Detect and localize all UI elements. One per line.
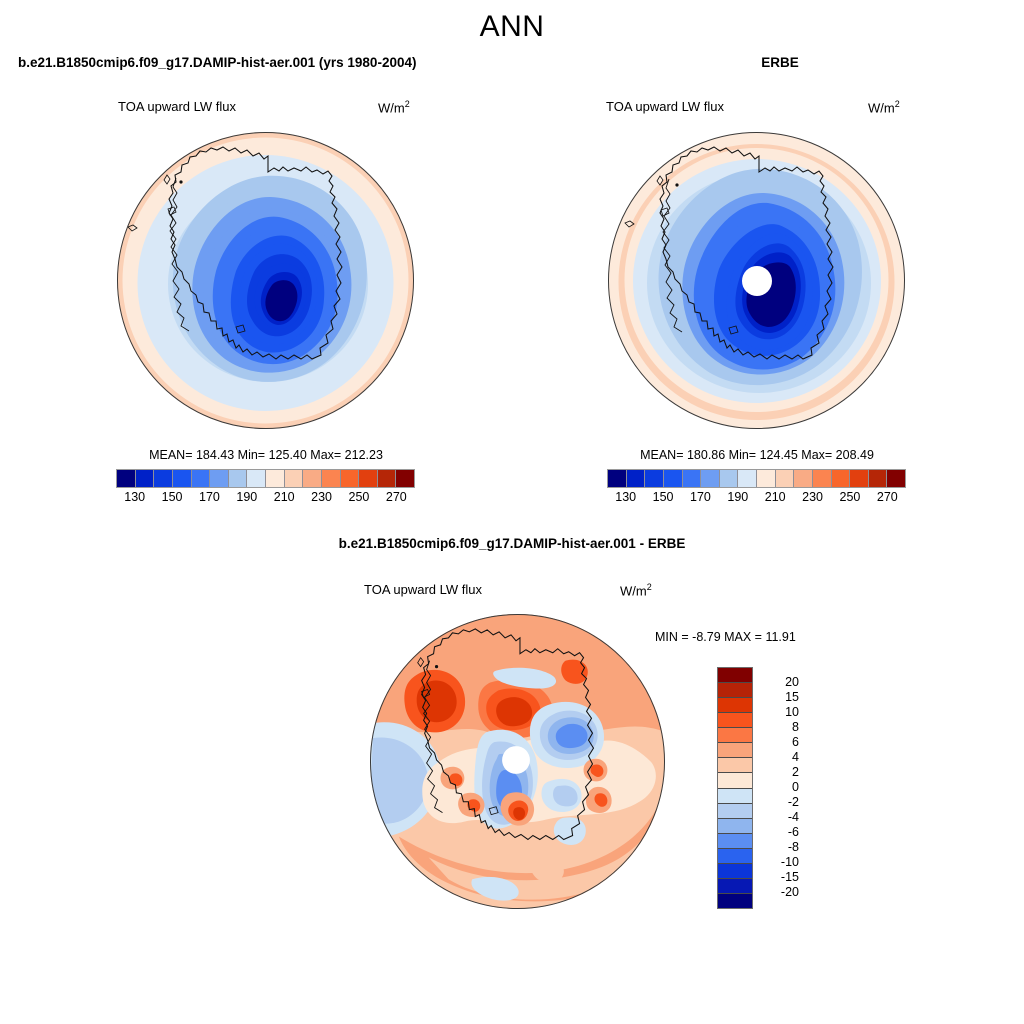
map-diff-svg — [369, 613, 666, 910]
colorbar-swatch-3 — [173, 470, 192, 487]
colorbar-tick-170: 170 — [690, 490, 711, 504]
diff-colorbar-swatch-9 — [718, 804, 752, 819]
colorbar-swatch-11 — [322, 470, 341, 487]
diff-colorbar-tick-neg20: -20 — [781, 885, 799, 899]
left-variable-label: TOA upward LW flux — [118, 99, 236, 114]
right-panel-title: ERBE — [600, 55, 960, 70]
colorbar-tick-190: 190 — [727, 490, 748, 504]
colorbar-tick-250: 250 — [840, 490, 861, 504]
colorbar-swatch-0 — [608, 470, 627, 487]
colorbar-swatch-5 — [210, 470, 229, 487]
colorbar-swatch-8 — [757, 470, 776, 487]
diff-colorbar-ticks: 20151086420-2-4-6-8-10-15-20 — [755, 667, 799, 907]
diff-colorbar-swatch-12 — [718, 849, 752, 864]
map-diff-antarctic[interactable] — [369, 613, 666, 910]
left-colorbar-swatches[interactable] — [116, 469, 415, 488]
colorbar-swatch-4 — [683, 470, 702, 487]
colorbar-swatch-3 — [664, 470, 683, 487]
colorbar-tick-150: 150 — [162, 490, 183, 504]
diff-colorbar-tick-8: 8 — [792, 720, 799, 734]
colorbar-swatch-1 — [136, 470, 155, 487]
diff-stats: MIN = -8.79 MAX = 11.91 — [655, 630, 855, 644]
diff-colorbar-tick-neg2: -2 — [788, 795, 799, 809]
colorbar-tick-230: 230 — [311, 490, 332, 504]
colorbar-swatch-11 — [813, 470, 832, 487]
diff-colorbar-tick-neg4: -4 — [788, 810, 799, 824]
right-stats: MEAN= 180.86 Min= 124.45 Max= 208.49 — [607, 448, 907, 462]
colorbar-tick-270: 270 — [877, 490, 898, 504]
diff-colorbar-swatches[interactable] — [717, 667, 753, 909]
diff-colorbar-swatch-10 — [718, 819, 752, 834]
colorbar-swatch-6 — [720, 470, 739, 487]
page-title: ANN — [0, 10, 1024, 44]
diff-colorbar-swatch-7 — [718, 773, 752, 788]
left-colorbar[interactable]: 130150170190210230250270 — [116, 469, 415, 506]
colorbar-tick-150: 150 — [653, 490, 674, 504]
left-units-text: W/m — [378, 100, 405, 115]
colorbar-swatch-15 — [396, 470, 414, 487]
polar-hole — [502, 746, 530, 774]
colorbar-tick-270: 270 — [386, 490, 407, 504]
colorbar-swatch-9 — [285, 470, 304, 487]
colorbar-swatch-7 — [247, 470, 266, 487]
diff-units-label: W/m2 — [620, 582, 652, 598]
diff-colorbar-swatch-5 — [718, 743, 752, 758]
right-units-exponent: 2 — [895, 99, 900, 109]
colorbar-tick-210: 210 — [765, 490, 786, 504]
diff-units-text: W/m — [620, 583, 647, 598]
colorbar-swatch-6 — [229, 470, 248, 487]
diff-colorbar-tick-neg15: -15 — [781, 870, 799, 884]
diff-colorbar-tick-6: 6 — [792, 735, 799, 749]
diff-colorbar-swatch-4 — [718, 728, 752, 743]
colorbar-tick-130: 130 — [124, 490, 145, 504]
left-panel-title: b.e21.B1850cmip6.f09_g17.DAMIP-hist-aer.… — [18, 55, 416, 70]
right-colorbar-ticks: 130150170190210230250270 — [607, 488, 906, 506]
diff-colorbar-tick-10: 10 — [785, 705, 799, 719]
colorbar-tick-250: 250 — [349, 490, 370, 504]
left-colorbar-ticks: 130150170190210230250270 — [116, 488, 415, 506]
polar-hole — [742, 266, 772, 296]
colorbar-tick-130: 130 — [615, 490, 636, 504]
right-colorbar-swatches[interactable] — [607, 469, 906, 488]
diff-colorbar-tick-20: 20 — [785, 675, 799, 689]
colorbar-tick-210: 210 — [274, 490, 295, 504]
colorbar-swatch-12 — [341, 470, 360, 487]
colorbar-swatch-0 — [117, 470, 136, 487]
colorbar-swatch-4 — [192, 470, 211, 487]
colorbar-tick-190: 190 — [236, 490, 257, 504]
colorbar-swatch-14 — [869, 470, 888, 487]
colorbar-swatch-1 — [627, 470, 646, 487]
diff-colorbar-tick-neg10: -10 — [781, 855, 799, 869]
colorbar-swatch-12 — [832, 470, 851, 487]
diff-colorbar-swatch-3 — [718, 713, 752, 728]
left-stats: MEAN= 184.43 Min= 125.40 Max= 212.23 — [116, 448, 416, 462]
colorbar-swatch-10 — [794, 470, 813, 487]
right-colorbar[interactable]: 130150170190210230250270 — [607, 469, 906, 506]
diff-colorbar-tick-neg6: -6 — [788, 825, 799, 839]
diff-colorbar-swatch-6 — [718, 758, 752, 773]
diff-units-exponent: 2 — [647, 582, 652, 592]
diff-variable-label: TOA upward LW flux — [364, 582, 482, 597]
map-left-svg — [116, 131, 415, 430]
left-units-label: W/m2 — [378, 99, 410, 115]
left-units-exponent: 2 — [405, 99, 410, 109]
colorbar-swatch-7 — [738, 470, 757, 487]
diff-panel-title: b.e21.B1850cmip6.f09_g17.DAMIP-hist-aer.… — [182, 536, 842, 551]
colorbar-swatch-15 — [887, 470, 905, 487]
colorbar-swatch-5 — [701, 470, 720, 487]
colorbar-swatch-9 — [776, 470, 795, 487]
right-variable-label: TOA upward LW flux — [606, 99, 724, 114]
diff-colorbar-tick-4: 4 — [792, 750, 799, 764]
colorbar-swatch-10 — [303, 470, 322, 487]
diff-colorbar[interactable] — [717, 667, 753, 907]
diff-colorbar-swatch-11 — [718, 834, 752, 849]
map-right-antarctic[interactable] — [607, 131, 906, 430]
diff-colorbar-tick-0: 0 — [792, 780, 799, 794]
diff-colorbar-swatch-15 — [718, 894, 752, 908]
right-units-text: W/m — [868, 100, 895, 115]
diff-colorbar-swatch-8 — [718, 789, 752, 804]
diff-colorbar-tick-2: 2 — [792, 765, 799, 779]
diff-colorbar-tick-neg8: -8 — [788, 840, 799, 854]
colorbar-swatch-13 — [359, 470, 378, 487]
diff-colorbar-swatch-2 — [718, 698, 752, 713]
right-units-label: W/m2 — [868, 99, 900, 115]
diff-colorbar-swatch-1 — [718, 683, 752, 698]
colorbar-swatch-2 — [154, 470, 173, 487]
colorbar-swatch-14 — [378, 470, 397, 487]
diff-colorbar-swatch-0 — [718, 668, 752, 683]
map-left-antarctic[interactable] — [116, 131, 415, 430]
map-right-svg — [607, 131, 906, 430]
colorbar-tick-230: 230 — [802, 490, 823, 504]
colorbar-swatch-2 — [645, 470, 664, 487]
colorbar-swatch-13 — [850, 470, 869, 487]
diff-colorbar-tick-15: 15 — [785, 690, 799, 704]
diff-colorbar-swatch-13 — [718, 864, 752, 879]
colorbar-swatch-8 — [266, 470, 285, 487]
colorbar-tick-170: 170 — [199, 490, 220, 504]
diff-colorbar-swatch-14 — [718, 879, 752, 894]
